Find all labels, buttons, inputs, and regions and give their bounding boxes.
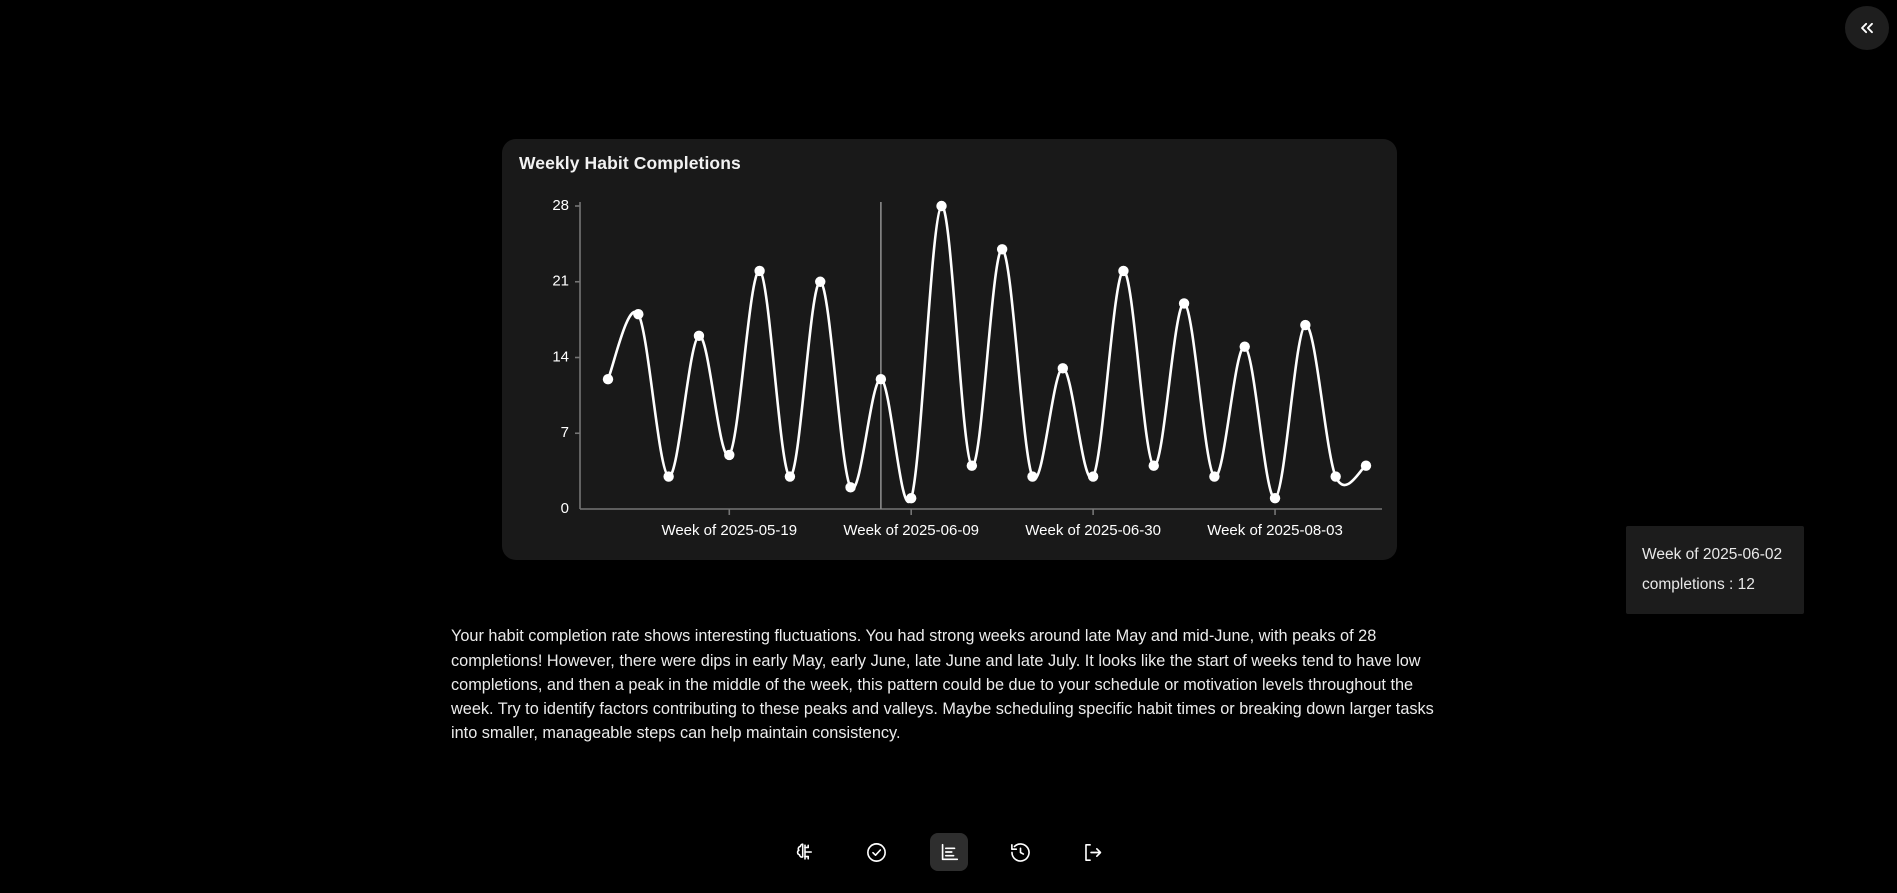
tooltip-value: completions : 12 (1642, 570, 1788, 600)
chart-data-point[interactable] (815, 277, 825, 287)
chart-data-point[interactable] (1027, 471, 1037, 481)
chart-tooltip: Week of 2025-06-02 completions : 12 (1626, 526, 1804, 614)
line-chart-svg[interactable]: 07142128Week of 2025-05-19Week of 2025-0… (502, 139, 1397, 560)
toolbar-item-habits[interactable] (858, 833, 896, 871)
chart-data-point[interactable] (1240, 341, 1250, 351)
chart-data-point[interactable] (1330, 471, 1340, 481)
chart-data-point[interactable] (1361, 461, 1371, 471)
bottom-toolbar (0, 833, 1897, 871)
x-axis-tick-label: Week of 2025-06-30 (1025, 522, 1161, 539)
chart-data-point[interactable] (663, 471, 673, 481)
chart-data-point[interactable] (1088, 471, 1098, 481)
x-axis-tick-label: Week of 2025-06-09 (843, 522, 979, 539)
chart-data-point[interactable] (997, 244, 1007, 254)
toolbar-item-stats[interactable] (930, 833, 968, 871)
chart-data-point[interactable] (785, 471, 795, 481)
chart-data-point[interactable] (1058, 363, 1068, 373)
chevrons-left-icon (1857, 18, 1877, 38)
tooltip-title: Week of 2025-06-02 (1642, 540, 1788, 570)
chart-data-point[interactable] (1270, 493, 1280, 503)
y-axis-tick-label: 7 (561, 424, 569, 441)
collapse-panel-button[interactable] (1845, 6, 1889, 50)
app-root: Weekly Habit Completions 07142128Week of… (0, 0, 1897, 893)
brain-icon (794, 841, 816, 863)
x-axis-tick-label: Week of 2025-05-19 (661, 522, 797, 539)
chart-data-point[interactable] (633, 309, 643, 319)
logout-icon (1081, 841, 1104, 864)
chart-data-point[interactable] (936, 201, 946, 211)
chart-data-point[interactable] (1179, 298, 1189, 308)
x-axis-tick-label: Week of 2025-08-03 (1207, 522, 1343, 539)
chart-data-point[interactable] (694, 331, 704, 341)
chart-card: Weekly Habit Completions 07142128Week of… (502, 139, 1397, 560)
chart-line-series-completions (608, 206, 1366, 502)
chart-plot-area[interactable]: 07142128Week of 2025-05-19Week of 2025-0… (502, 139, 1397, 560)
y-axis-tick-label: 14 (552, 348, 569, 365)
insight-paragraph: Your habit completion rate shows interes… (451, 624, 1446, 745)
chart-data-point[interactable] (967, 461, 977, 471)
toolbar-item-history[interactable] (1002, 833, 1040, 871)
chart-data-point[interactable] (906, 493, 916, 503)
y-axis-tick-label: 28 (552, 197, 569, 214)
bar-chart-icon (938, 841, 960, 863)
chart-data-point[interactable] (1209, 471, 1219, 481)
y-axis-tick-label: 0 (561, 500, 569, 517)
chart-data-point[interactable] (1149, 461, 1159, 471)
chart-data-point[interactable] (724, 450, 734, 460)
chart-data-point[interactable] (603, 374, 613, 384)
y-axis-tick-label: 21 (552, 273, 569, 290)
toolbar-item-logout[interactable] (1074, 833, 1112, 871)
history-icon (1009, 841, 1032, 864)
check-circle-icon (865, 841, 888, 864)
toolbar-item-insights[interactable] (786, 833, 824, 871)
chart-data-point[interactable] (1118, 266, 1128, 276)
chart-data-point[interactable] (754, 266, 764, 276)
chart-data-point[interactable] (845, 482, 855, 492)
chart-data-point[interactable] (1300, 320, 1310, 330)
chart-data-point[interactable] (876, 374, 886, 384)
